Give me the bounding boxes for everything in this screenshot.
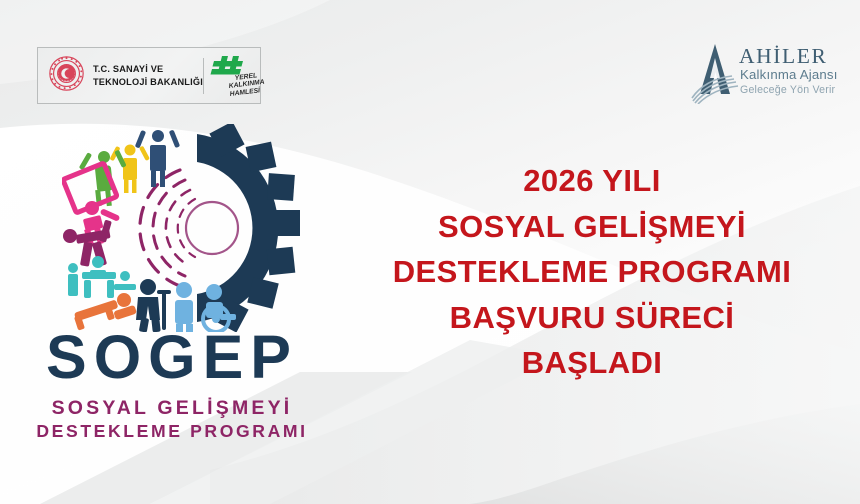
sogep-wordmark: SOGEP SOSYAL GELİŞMEYİ DESTEKLEME PROGRA… [22, 329, 322, 443]
ahiler-development-agency-logo: AHİLER Kalkınma Ajansı Geleceğe Yön Veri… [690, 40, 838, 108]
sogep-subtitle-line1: SOSYAL GELİŞMEYİ [22, 396, 322, 420]
ahiler-subtitle: Kalkınma Ajansı [740, 67, 838, 82]
ministry-badge: T.C. SANAYİ VE TEKNOLOJİ BAKANLIĞI YEREL… [37, 47, 261, 104]
headline-line-5: BAŞLADI [336, 340, 848, 386]
headline-block: 2026 YILI SOSYAL GELİŞMEYİ DESTEKLEME PR… [336, 158, 848, 386]
ministry-name: T.C. SANAYİ VE TEKNOLOJİ BAKANLIĞI [93, 63, 203, 87]
sogep-subtitle-line2: DESTEKLEME PROGRAMI [22, 420, 322, 443]
ministry-name-line2: TEKNOLOJİ BAKANLIĞI [93, 77, 203, 87]
yerel-kalkinma-hamlesi-hashtag: YEREL KALKINMA HAMLESİ [204, 54, 268, 98]
figure-green [79, 150, 127, 207]
figure-teal [68, 256, 136, 298]
ahiler-tagline: Geleceğe Yön Verir [740, 84, 835, 96]
figure-blue [135, 130, 180, 187]
ahiler-monogram-a-icon [690, 42, 742, 104]
sogep-logo: SOGEP SOSYAL GELİŞMEYİ DESTEKLEME PROGRA… [22, 124, 322, 454]
poster-canvas: T.C. SANAYİ VE TEKNOLOJİ BAKANLIĞI YEREL… [0, 0, 860, 504]
turkish-republic-gear-emblem-icon [48, 55, 85, 97]
sogep-wordmark-text: SOGEP [22, 329, 322, 387]
ministry-name-line1: T.C. SANAYİ VE [93, 64, 163, 74]
gear-with-people-icon [62, 124, 312, 332]
headline-line-2: SOSYAL GELİŞMEYİ [336, 204, 848, 250]
ahiler-title: AHİLER [739, 44, 827, 69]
headline-line-1: 2026 YILI [336, 158, 848, 204]
headline-line-4: BAŞVURU SÜRECİ [336, 295, 848, 341]
headline-line-3: DESTEKLEME PROGRAMI [336, 249, 848, 295]
